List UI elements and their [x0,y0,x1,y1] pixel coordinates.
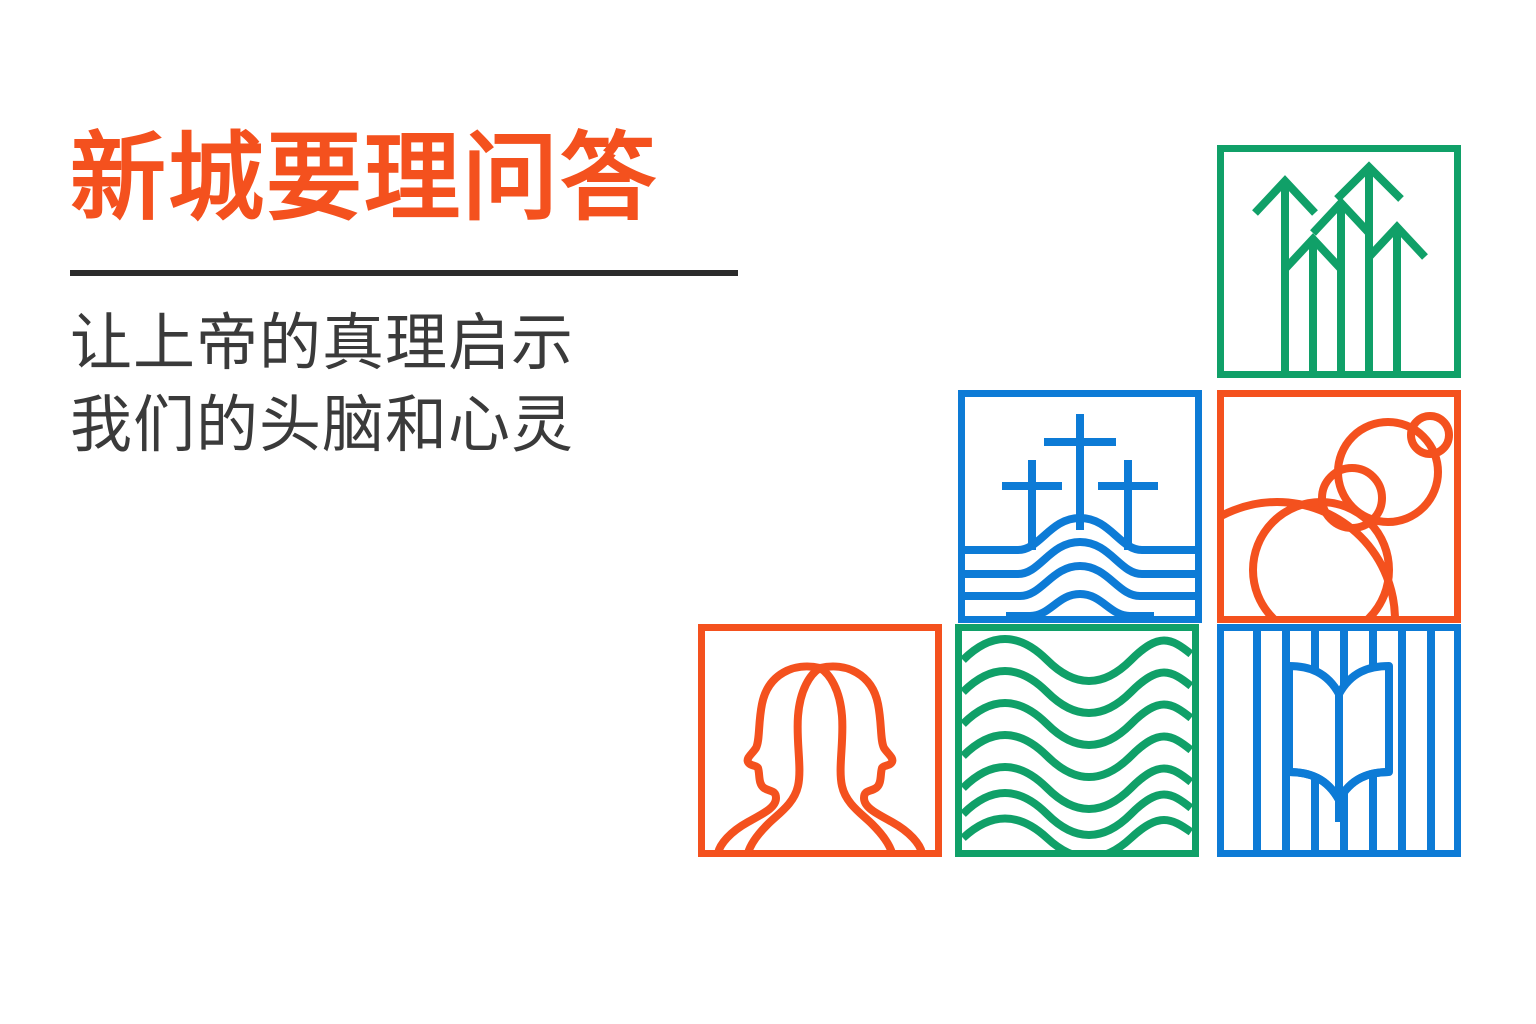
tile-growth-arrows [1217,145,1461,378]
title-block: 新城要理问答 让上帝的真理启示 我们的头脑和心灵 [70,130,770,466]
two-profiles-icon [698,624,942,857]
subtitle-line-2: 我们的头脑和心灵 [70,384,770,466]
tile-three-crosses [958,390,1202,623]
growth-arrows-icon [1217,145,1461,378]
open-book-icon [1217,624,1461,857]
tile-waves [955,624,1199,857]
circles-icon [1217,390,1461,623]
subtitle-line-1: 让上帝的真理启示 [70,302,770,384]
three-crosses-icon [958,390,1202,623]
tile-circles [1217,390,1461,623]
tile-two-profiles [698,624,942,857]
poster-canvas: 新城要理问答 让上帝的真理启示 我们的头脑和心灵 [0,0,1536,1024]
waves-icon [955,624,1199,857]
page-title: 新城要理问答 [70,130,770,226]
title-divider [70,270,738,276]
subtitle-block: 让上帝的真理启示 我们的头脑和心灵 [70,302,770,466]
tile-open-book [1217,624,1461,857]
